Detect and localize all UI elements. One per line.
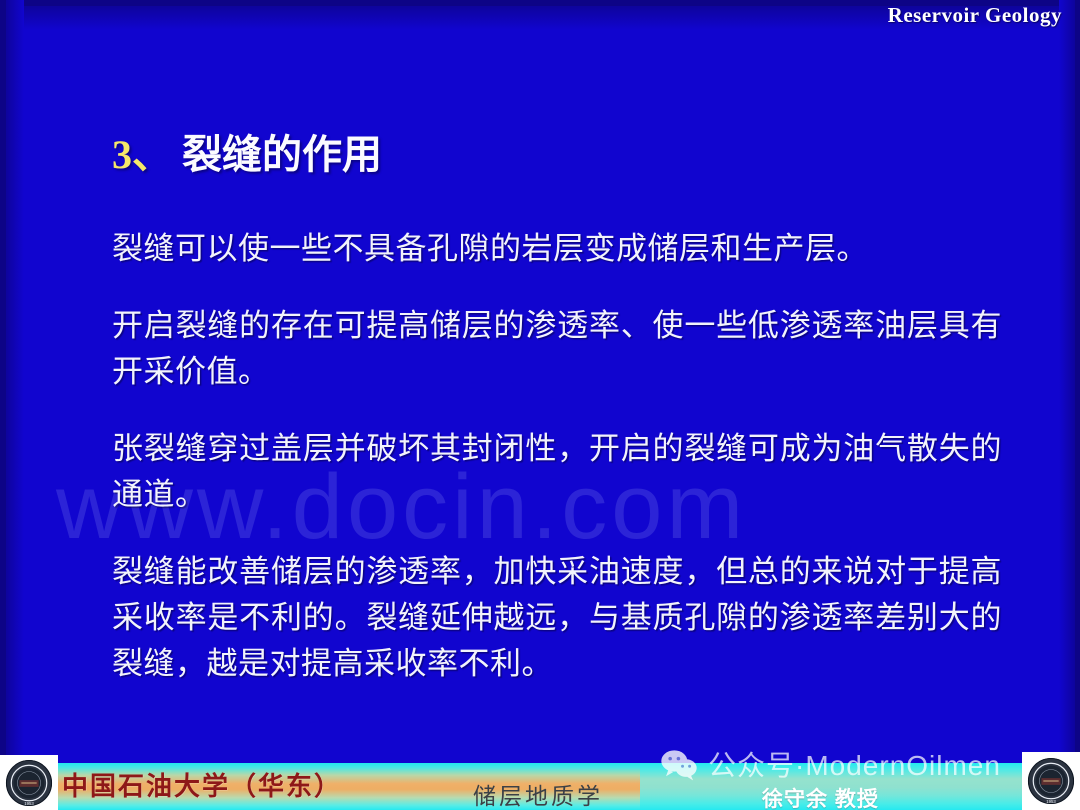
university-seal-icon: 1953 xyxy=(5,759,53,807)
svg-text:1953: 1953 xyxy=(24,801,34,806)
body-paragraph: 张裂缝穿过盖层并破坏其封闭性，开启的裂缝可成为油气散失的通道。 xyxy=(112,426,1002,518)
body-paragraph-list: 裂缝可以使一些不具备孔隙的岩层变成储层和生产层。 开启裂缝的存在可提高储层的渗透… xyxy=(112,195,1002,687)
slide-header: Reservoir Geology xyxy=(0,0,1080,30)
svg-text:1953: 1953 xyxy=(1046,799,1056,804)
footer-course-name: 储层地质学 xyxy=(473,777,603,810)
presentation-slide: www.docin.com Reservoir Geology 3、裂缝的作用 … xyxy=(0,0,1080,810)
body-paragraph: 开启裂缝的存在可提高储层的渗透率、使一些低渗透率油层具有开采价值。 xyxy=(112,303,1002,395)
university-seal-left: 1953 xyxy=(0,755,58,810)
footer-university-name: 中国石油大学（华东） xyxy=(62,766,342,803)
university-seal-icon: 1953 xyxy=(1027,757,1075,805)
footer-author-name: 徐守余 教授 xyxy=(762,783,879,810)
university-seal-right: 1953 xyxy=(1022,752,1080,810)
title-number: 3 xyxy=(112,132,132,177)
page-title: 3、裂缝的作用 xyxy=(112,122,382,180)
slide-body: 3、裂缝的作用 裂缝可以使一些不具备孔隙的岩层变成储层和生产层。 开启裂缝的存在… xyxy=(0,30,1080,730)
body-paragraph: 裂缝可以使一些不具备孔隙的岩层变成储层和生产层。 xyxy=(112,226,1002,272)
header-title: Reservoir Geology xyxy=(888,3,1062,28)
title-separator: 、 xyxy=(132,132,172,177)
slide-footer: 中国石油大学（华东） 储层地质学 徐守余 教授 1953 xyxy=(0,763,1080,810)
title-text: 裂缝的作用 xyxy=(182,132,382,177)
body-paragraph: 裂缝能改善储层的渗透率，加快采油速度，但总的来说对于提高采收率是不利的。裂缝延伸… xyxy=(112,549,1002,687)
